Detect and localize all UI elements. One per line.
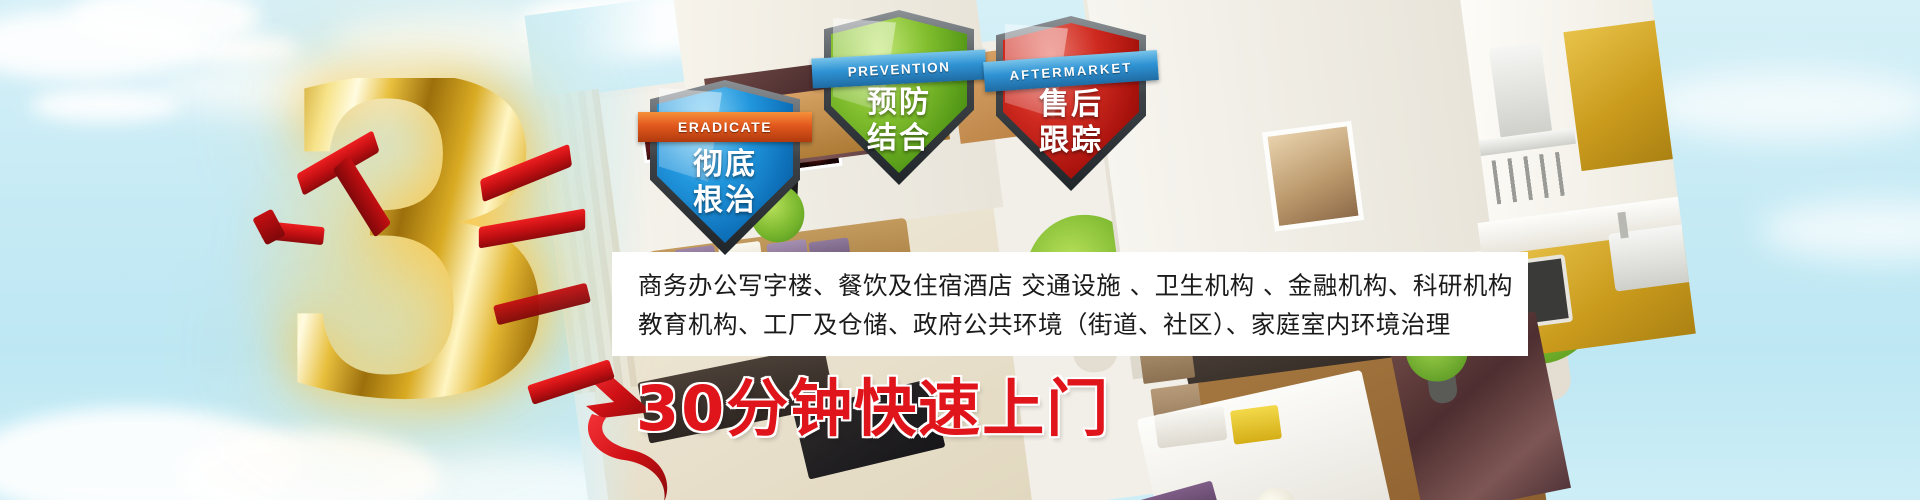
plant-pot (1427, 373, 1458, 404)
hood-shelf (1479, 128, 1576, 156)
kitchen-counter (1478, 194, 1701, 258)
table-lamp (1253, 485, 1300, 500)
promo-banner: 3 ERADICATE 彻底 根治 PREV (0, 0, 1920, 500)
dining-chair (1296, 401, 1357, 462)
bed-pillow (1154, 406, 1228, 449)
bed (1137, 370, 1392, 500)
service-scope-line-2: 教育机构、工厂及仓储、政府公共环境（街道、社区）、家庭室内环境治理 (638, 305, 1528, 344)
shield-chinese-line1: 售后 (996, 88, 1146, 122)
dining-chair (1417, 366, 1475, 422)
sink (1608, 223, 1701, 292)
shield-eradicate: ERADICATE 彻底 根治 (650, 80, 800, 255)
faucet (1617, 212, 1628, 239)
service-scope-line-1: 商务办公写字楼、餐饮及住宿酒店 交通设施 、卫生机构 、金融机构、科研机构 (638, 266, 1528, 305)
shield-chinese-line1: 彻底 (650, 148, 800, 182)
service-scope-textbox: 商务办公写字楼、餐饮及住宿酒店 交通设施 、卫生机构 、金融机构、科研机构 教育… (612, 252, 1528, 356)
shield-banner-label: ERADICATE (678, 119, 772, 135)
portrait-painting (1262, 121, 1364, 232)
dining-chair (1150, 382, 1210, 441)
shield-banner-label: PREVENTION (847, 59, 950, 79)
shield-aftermarket: AFTERMARKET 售后 跟踪 (996, 16, 1146, 191)
shield-chinese-line2: 根治 (650, 184, 800, 218)
cloud-decoration (1760, 200, 1920, 260)
shield-chinese-line2: 结合 (824, 122, 974, 156)
shield-chinese-line1: 预防 (824, 86, 974, 120)
dining-chair (1230, 402, 1291, 463)
shield-chinese-line2: 跟踪 (996, 124, 1146, 158)
cloud-decoration (30, 88, 180, 122)
utensil-rail (1492, 152, 1567, 205)
cloud-decoration (1640, 70, 1920, 140)
bed-throw (1230, 405, 1282, 445)
headline-30min-service: 30分钟快速上门 (636, 358, 1110, 448)
plant-pot (1520, 353, 1574, 405)
range-hood (1489, 41, 1553, 139)
bedroom-floor (1198, 340, 1547, 500)
shield-banner-label: AFTERMARKET (1009, 59, 1133, 83)
shield-prevention: PREVENTION 预防 结合 (824, 10, 974, 185)
shield-banner: ERADICATE (638, 112, 812, 142)
bed-cushion-purple (1130, 480, 1223, 500)
